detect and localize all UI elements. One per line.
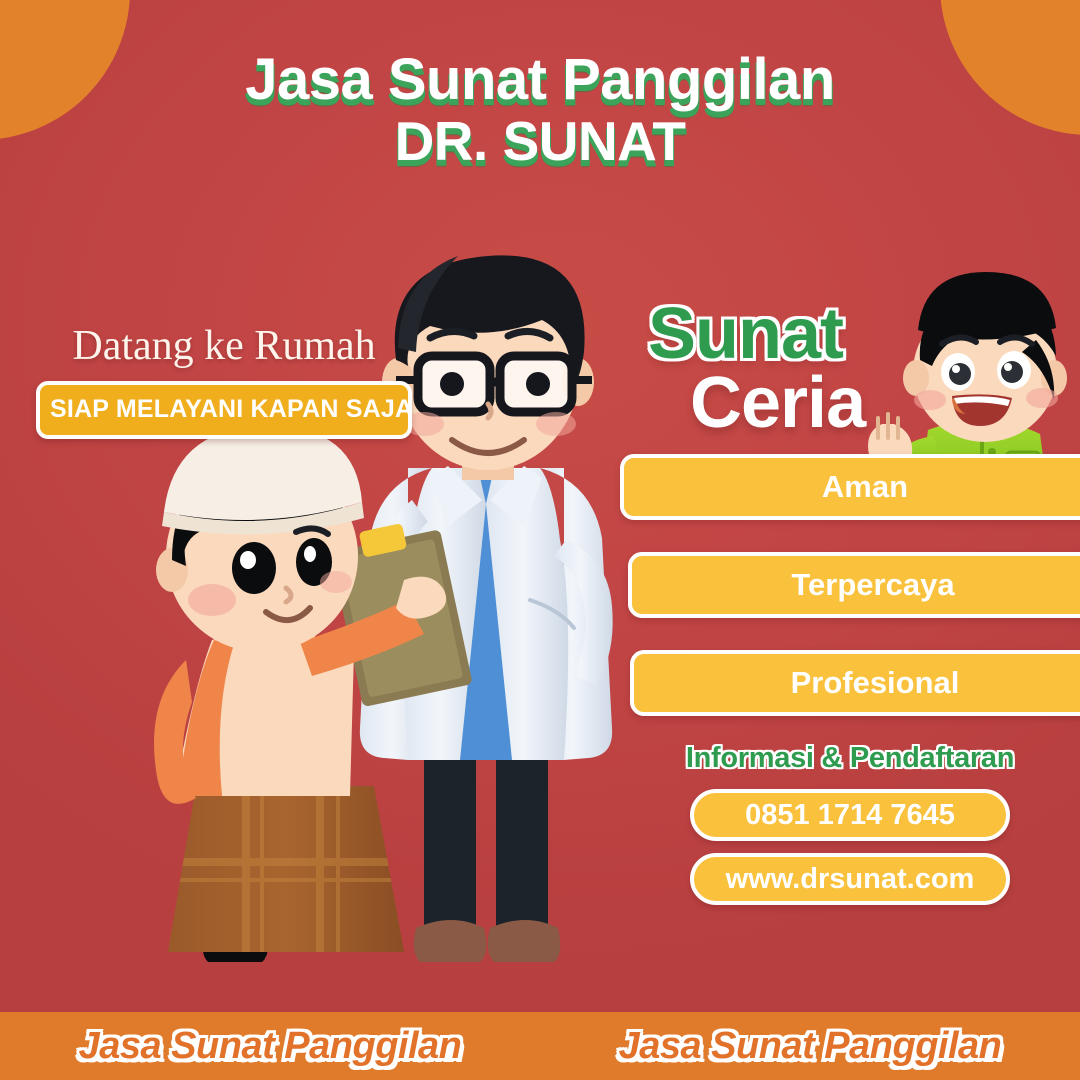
left-column: Datang ke Rumah SIAP MELAYANI KAPAN SAJA [24, 325, 424, 439]
feature-pill-terpercaya[interactable]: Terpercaya [628, 552, 1080, 618]
headline-line-1: Jasa Sunat Panggilan [0, 50, 1080, 109]
tagline-datang: Datang ke Rumah [24, 325, 424, 367]
clipboard-icon [327, 516, 472, 708]
contact-block: Informasi & Pendaftaran 0851 1714 7645 w… [620, 742, 1080, 905]
headline-line-2: DR. SUNAT [0, 113, 1080, 169]
footer-text-right: Jasa Sunat Panggilan [619, 1025, 1002, 1068]
badge-siap-melayani: SIAP MELAYANI KAPAN SAJA [36, 381, 412, 439]
brand-line-sunat: Sunat [648, 300, 1080, 369]
contact-website-button[interactable]: www.drsunat.com [690, 853, 1010, 905]
poster-canvas: Jasa Sunat Panggilan DR. SUNAT [0, 0, 1080, 1080]
footer-bar: Jasa Sunat Panggilan Jasa Sunat Panggila… [0, 1012, 1080, 1080]
brand-lockup: Sunat Ceria [648, 300, 1080, 438]
feature-pill-aman[interactable]: Aman [620, 454, 1080, 520]
brand-line-ceria: Ceria [690, 369, 1080, 438]
glasses-icon [396, 356, 592, 412]
headline-block: Jasa Sunat Panggilan DR. SUNAT [0, 50, 1080, 169]
feature-list: Aman Terpercaya Profesional [620, 454, 1080, 716]
contact-phone-button[interactable]: 0851 1714 7645 [690, 789, 1010, 841]
contact-title: Informasi & Pendaftaran [620, 742, 1080, 775]
boy-in-sarong-character [154, 426, 446, 962]
feature-pill-profesional[interactable]: Profesional [630, 650, 1080, 716]
right-column: Sunat Ceria Aman Terpercaya Profesional … [620, 300, 1080, 917]
footer-text-left: Jasa Sunat Panggilan [79, 1025, 462, 1068]
